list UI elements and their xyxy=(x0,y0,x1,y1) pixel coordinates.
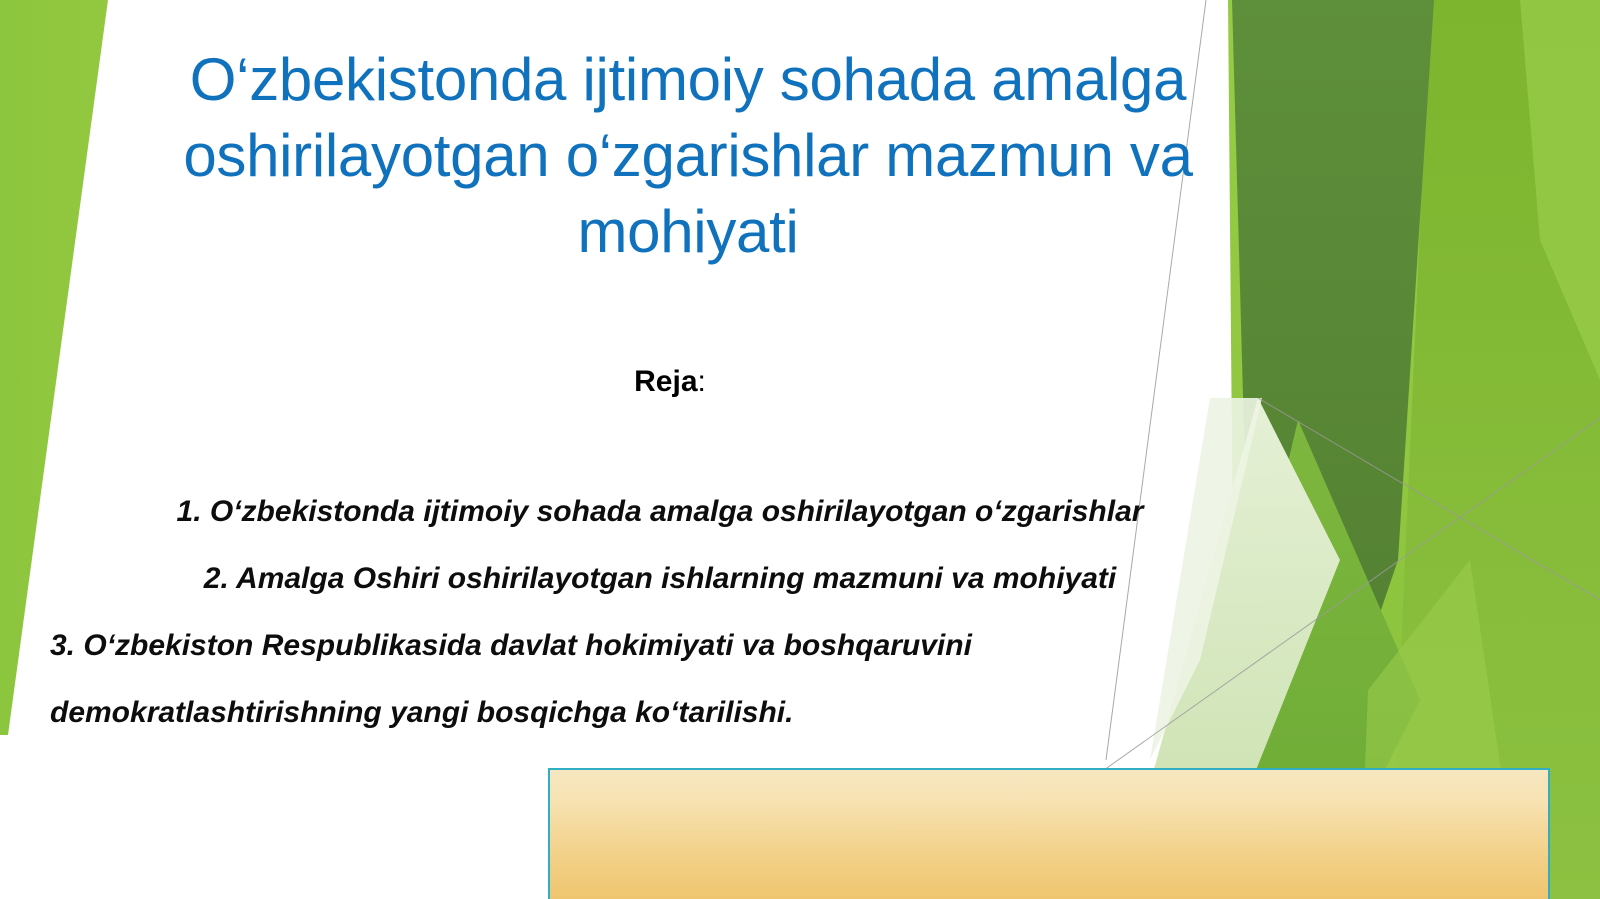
agenda-list: 1. O‘zbekistonda ijtimoiy sohada amalga … xyxy=(40,478,1280,746)
presentation-slide: O‘zbekistonda ijtimoiy sohada amalga osh… xyxy=(0,0,1600,899)
agenda-heading-colon: : xyxy=(698,365,706,398)
list-item: demokratlashtirishning yangi bosqichga k… xyxy=(40,679,1280,746)
list-item: 2. Amalga Oshiri oshirilayotgan ishlarni… xyxy=(40,545,1280,612)
list-item: 3. O‘zbekiston Respublikasida davlat hok… xyxy=(40,612,1280,679)
slide-content-layer: O‘zbekistonda ijtimoiy sohada amalga osh… xyxy=(0,0,1600,899)
page-title: O‘zbekistonda ijtimoiy sohada amalga osh… xyxy=(80,42,1296,270)
gold-gradient-placeholder-box[interactable] xyxy=(548,768,1550,899)
agenda-heading-word: Reja xyxy=(634,365,697,398)
agenda-heading: Reja: xyxy=(80,362,1260,402)
list-item: 1. O‘zbekistonda ijtimoiy sohada amalga … xyxy=(40,478,1280,545)
